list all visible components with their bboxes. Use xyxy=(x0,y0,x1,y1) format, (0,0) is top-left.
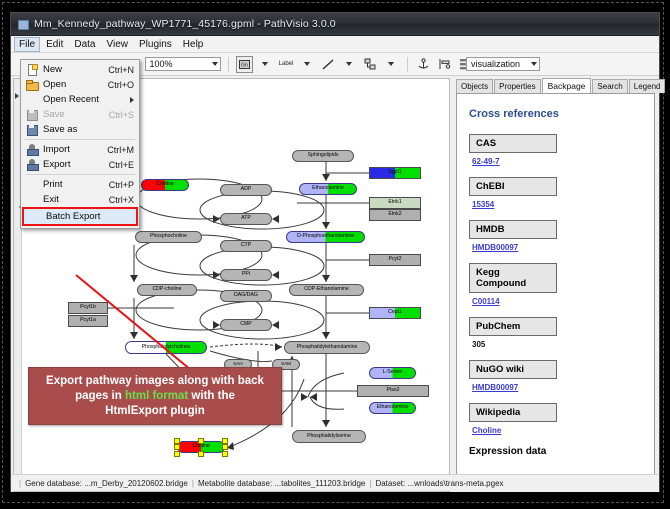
menu-item-print[interactable]: Print Ctrl+P xyxy=(21,177,139,192)
line-dropdown[interactable] xyxy=(341,56,358,73)
pathvisio-icon xyxy=(17,18,29,30)
batch-export-highlight: Batch Export xyxy=(22,207,138,226)
cross-references-title: Cross references xyxy=(469,108,642,120)
pathvisio-window: Mm_Kennedy_pathway_WP1771_45176.gpml - P… xyxy=(10,12,660,492)
import-icon xyxy=(21,142,43,157)
menu-item-batch-export-label: Batch Export xyxy=(46,211,136,222)
status-metabolite-db-label: Metabolite database: xyxy=(198,479,272,488)
chevron-right-icon xyxy=(130,97,134,103)
status-divider-0: | xyxy=(19,479,21,488)
xref-label-wikipedia: Wikipedia xyxy=(469,403,557,422)
datanode-button[interactable]: Gn xyxy=(236,56,253,73)
svg-text:Gn: Gn xyxy=(241,62,248,68)
new-document-icon xyxy=(21,62,43,77)
side-panel: Objects Properties Backpage Search Legen… xyxy=(452,78,657,492)
status-dataset-value: ...wnloads\trans-meta.pgex xyxy=(407,479,503,488)
screenshot-root: Mm_Kennedy_pathway_WP1771_45176.gpml - P… xyxy=(0,0,670,509)
menu-item-save-accel: Ctrl+S xyxy=(109,110,139,120)
menu-plugins[interactable]: Plugins xyxy=(134,37,177,52)
side-tabs: Objects Properties Backpage Search Legen… xyxy=(452,78,657,93)
open-recent-icon-slot xyxy=(21,92,43,107)
menu-item-export-accel: Ctrl+E xyxy=(109,160,139,170)
batch-export-icon-slot xyxy=(24,209,46,224)
interaction-dropdown[interactable] xyxy=(383,56,400,73)
resize-handle-sw[interactable] xyxy=(174,451,180,457)
menu-item-open-label: Open xyxy=(43,79,108,90)
xref-label-cas: CAS xyxy=(469,134,557,153)
xref-value-cas[interactable]: 62-49-7 xyxy=(472,157,642,166)
xref-label-pubchem: PubChem xyxy=(469,317,557,336)
resize-handle-n[interactable] xyxy=(198,438,204,444)
menu-item-save-label: Save xyxy=(43,109,109,120)
menu-divider-2 xyxy=(25,174,135,175)
xref-label-chebi: ChEBI xyxy=(469,177,557,196)
callout-line-2a: pages in xyxy=(75,390,125,402)
datanode-dropdown[interactable] xyxy=(257,56,274,73)
window-title: Mm_Kennedy_pathway_WP1771_45176.gpml - P… xyxy=(34,18,336,30)
status-dataset-label: Dataset: xyxy=(375,479,405,488)
menu-view[interactable]: View xyxy=(101,37,133,52)
chevron-down-icon xyxy=(531,62,537,66)
backpage-content: Cross references CAS 62-49-7 ChEBI 15354… xyxy=(456,93,655,490)
label-dropdown[interactable] xyxy=(299,56,316,73)
status-metabolite-db-value: ...tabolites_111203.bridge xyxy=(274,479,365,488)
resize-handle-s[interactable] xyxy=(198,451,204,457)
status-divider-2: | xyxy=(369,479,371,488)
annotation-callout: Export pathway images along with back pa… xyxy=(28,367,282,425)
visualization-combobox[interactable]: visualization xyxy=(466,57,540,71)
xref-value-hmdb[interactable]: HMDB00097 xyxy=(472,243,642,252)
tab-objects[interactable]: Objects xyxy=(456,79,493,93)
chevron-down-icon xyxy=(304,62,310,66)
menu-item-open-recent-label: Open Recent xyxy=(43,94,139,105)
menu-item-export-label: Export xyxy=(43,159,109,170)
visualization-value: visualization xyxy=(471,59,520,69)
callout-line-2c: with the xyxy=(188,390,235,402)
status-gene-db-value: ...m_Derby_20120602.bridge xyxy=(84,479,188,488)
xref-value-pubchem: 305 xyxy=(472,340,642,349)
resize-handle-se[interactable] xyxy=(222,451,228,457)
resize-handle-e[interactable] xyxy=(222,444,228,450)
menu-item-import-label: Import xyxy=(43,144,107,155)
menu-file[interactable]: File xyxy=(14,37,40,52)
tab-legend[interactable]: Legend xyxy=(629,79,666,93)
xref-value-kegg[interactable]: C00114 xyxy=(472,297,642,306)
menu-item-import[interactable]: Import Ctrl+M xyxy=(21,142,139,157)
file-dropdown-menu[interactable]: New Ctrl+N Open Ctrl+O Open Recent Save … xyxy=(20,59,140,229)
callout-line-2: pages in html format with the xyxy=(75,389,235,404)
menu-item-new-label: New xyxy=(43,64,108,75)
menu-item-save: Save Ctrl+S xyxy=(21,107,139,122)
menu-item-batch-export[interactable]: Batch Export xyxy=(24,209,136,224)
menu-edit[interactable]: Edit xyxy=(41,37,68,52)
toolbar-divider xyxy=(228,57,229,72)
xref-value-chebi[interactable]: 15354 xyxy=(472,200,642,209)
anchor-icon[interactable] xyxy=(415,56,432,73)
status-gene-db-label: Gene database: xyxy=(25,479,82,488)
tab-search[interactable]: Search xyxy=(592,79,627,93)
callout-line-1: Export pathway images along with back xyxy=(46,374,264,389)
menu-item-new[interactable]: New Ctrl+N xyxy=(21,62,139,77)
menu-item-new-accel: Ctrl+N xyxy=(108,65,139,75)
xref-value-wikipedia[interactable]: Choline xyxy=(472,426,642,435)
align-left-icon[interactable] xyxy=(436,56,453,73)
menu-item-save-as[interactable]: Save as xyxy=(21,122,139,137)
menu-item-print-label: Print xyxy=(43,179,109,190)
export-icon xyxy=(21,157,43,172)
save-as-icon xyxy=(21,122,43,137)
expression-data-title: Expression data xyxy=(469,446,642,457)
menu-item-exit-accel: Ctrl+X xyxy=(109,195,139,205)
xref-label-hmdb: HMDB xyxy=(469,220,557,239)
callout-highlight: html format xyxy=(125,390,188,402)
chevron-down-icon xyxy=(212,62,218,66)
menu-item-exit[interactable]: Exit Ctrl+X xyxy=(21,192,139,207)
zoom-value: 100% xyxy=(150,59,173,69)
line-button[interactable] xyxy=(320,56,337,73)
menu-item-open-accel: Ctrl+O xyxy=(108,80,139,90)
chevron-down-icon xyxy=(388,62,394,66)
tab-backpage[interactable]: Backpage xyxy=(542,78,592,94)
selected-choline-node[interactable]: Choline xyxy=(177,441,225,453)
interaction-button[interactable] xyxy=(362,56,379,73)
print-icon-slot xyxy=(21,177,43,192)
menu-item-exit-label: Exit xyxy=(43,194,109,205)
menu-item-print-accel: Ctrl+P xyxy=(109,180,139,190)
menu-divider-1 xyxy=(25,139,135,140)
menu-item-save-as-label: Save as xyxy=(43,124,134,135)
title-bar: Mm_Kennedy_pathway_WP1771_45176.gpml - P… xyxy=(11,13,659,36)
label-button-text: Label xyxy=(279,61,294,67)
chevron-down-icon xyxy=(262,62,268,66)
xref-value-nugo[interactable]: HMDB00097 xyxy=(472,383,642,392)
resize-handle-w[interactable] xyxy=(174,444,180,450)
tab-properties[interactable]: Properties xyxy=(494,79,540,93)
menu-help[interactable]: Help xyxy=(178,37,209,52)
label-button[interactable]: Label xyxy=(278,56,295,73)
callout-line-3: HtmlExport plugin xyxy=(105,404,205,419)
save-icon xyxy=(21,107,43,122)
menu-item-open[interactable]: Open Ctrl+O xyxy=(21,77,139,92)
menu-item-open-recent[interactable]: Open Recent xyxy=(21,92,139,107)
menu-item-export[interactable]: Export Ctrl+E xyxy=(21,157,139,172)
status-divider-1: | xyxy=(192,479,194,488)
chevron-down-icon xyxy=(346,62,352,66)
menu-bar: File Edit Data View Plugins Help xyxy=(11,36,659,53)
xref-label-kegg: Kegg Compound xyxy=(469,263,557,293)
exit-icon-slot xyxy=(21,192,43,207)
menu-data[interactable]: Data xyxy=(69,37,100,52)
toolbar-divider-2 xyxy=(407,57,408,72)
zoom-combobox[interactable]: 100% xyxy=(145,57,221,71)
menu-item-import-accel: Ctrl+M xyxy=(107,145,139,155)
status-bar: | Gene database: ...m_Derby_20120602.bri… xyxy=(11,474,659,491)
xref-label-nugo: NuGO wiki xyxy=(469,360,557,379)
open-folder-icon xyxy=(21,77,43,92)
